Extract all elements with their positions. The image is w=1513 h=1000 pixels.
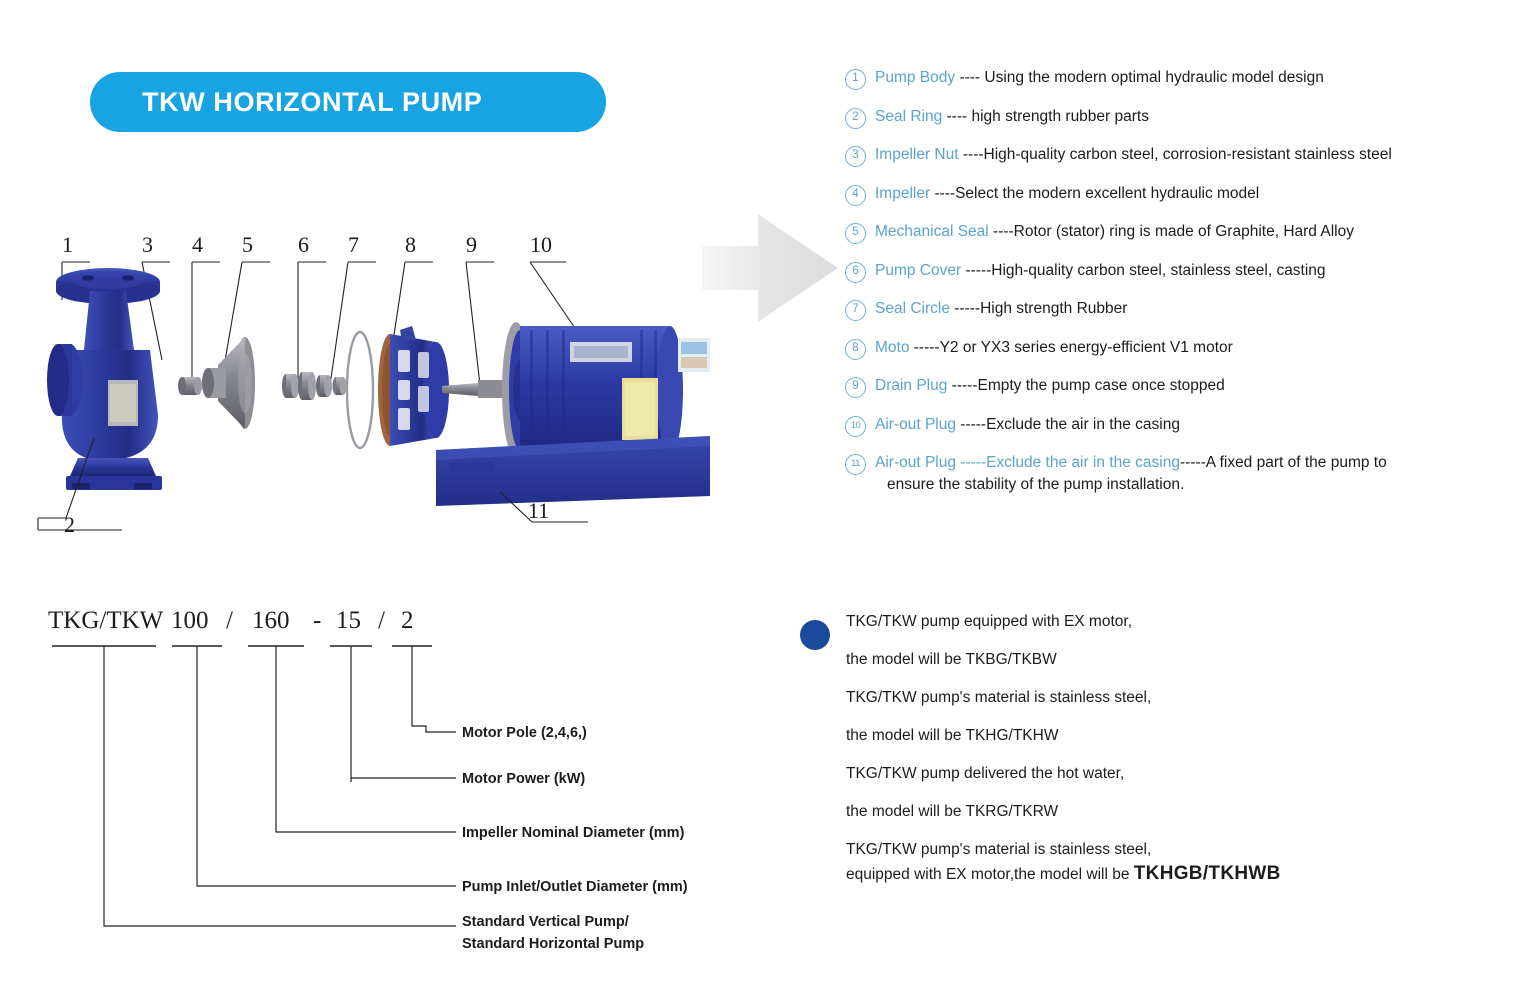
legend-number-8: 8 [845,339,866,360]
legend-number-1: 1 [845,69,866,90]
parts-legend: 1 Pump Body ---- Using the modern optima… [845,68,1505,512]
legend-item-9: 9 Drain Plug -----Empty the pump case on… [845,376,1505,398]
legend-part-name-2: Seal Ring [875,108,942,125]
legend-part-desc-1: ---- Using the modern optimal hydraulic … [955,69,1324,86]
bullet-dot-icon [800,620,830,650]
callout-label-motor-power: Motor Power (kW) [462,771,585,787]
callout-number-3: 3 [142,232,153,257]
note-line-1: TKG/TKW pump equipped with EX motor, [846,612,1440,632]
legend-part-name-7: Seal Circle [875,300,950,317]
code-dash: - [313,607,321,634]
flow-arrow [700,212,840,324]
callout-number-2: 2 [64,512,75,537]
legend-part-name-10: Air-out Plug [875,416,956,433]
legend-number-11: 11 [845,454,866,475]
code-slash-1: / [226,607,233,634]
callout-number-4: 4 [192,232,203,257]
legend-part-desc-4: ----Select the modern excellent hydrauli… [930,185,1259,202]
legend-part-name-5: Mechanical Seal [875,223,989,240]
legend-text-6: Pump Cover -----High-quality carbon stee… [875,261,1505,281]
legend-item-6: 6 Pump Cover -----High-quality carbon st… [845,261,1505,283]
code-pole: 2 [401,607,414,634]
part-pump-cover [378,326,449,446]
callout-numbers-top: 1 3 4 5 6 7 8 9 10 [62,232,552,257]
note-line-7-text: TKG/TKW pump's material is stainless ste… [846,841,1151,858]
legend-number-9: 9 [845,377,866,398]
callout-label-impeller-diameter: Impeller Nominal Diameter (mm) [462,825,685,841]
legend-part-desc-5: ----Rotor (stator) ring is made of Graph… [989,223,1354,240]
legend-text-3: Impeller Nut ----High-quality carbon ste… [875,145,1505,165]
legend-part-desc-10: -----Exclude the air in the casing [956,416,1180,433]
code-leaders [104,646,456,926]
notes-body: TKG/TKW pump equipped with EX motor, the… [846,612,1440,885]
legend-text-1: Pump Body ---- Using the modern optimal … [875,68,1505,88]
legend-part-desc-7: -----High strength Rubber [950,300,1127,317]
code-impeller: 160 [252,607,290,634]
legend-number-5: 5 [845,223,866,244]
legend-item-10: 10 Air-out Plug -----Exclude the air in … [845,415,1505,437]
callout-label-standard-pump-2: Standard Horizontal Pump [462,936,644,952]
code-inlet: 100 [171,607,209,634]
note-line-2: the model will be TKBG/TKBW [846,650,1440,670]
title-banner: TKW HORIZONTAL PUMP [90,72,606,132]
legend-item-4: 4 Impeller ----Select the modern excelle… [845,184,1505,206]
legend-item-7: 7 Seal Circle -----High strength Rubber [845,299,1505,321]
part-impeller-nut [178,377,202,395]
legend-item-3: 3 Impeller Nut ----High-quality carbon s… [845,145,1505,167]
legend-part-name-11: Air-out Plug -----Exclude the air in the… [875,454,1180,471]
legend-number-6: 6 [845,262,866,283]
note-line-8: equipped with EX motor,the model will be… [846,864,1440,885]
model-code-designation: TKG/TKW 100 / 160 - 15 / 2 [48,600,748,970]
legend-part-cont-11: ensure the stability of the pump install… [875,475,1505,495]
note-line-8-prefix: equipped with EX motor,the model will be [846,866,1134,883]
note-line-6: the model will be TKRG/TKRW [846,802,1440,822]
legend-number-7: 7 [845,300,866,321]
legend-text-9: Drain Plug -----Empty the pump case once… [875,376,1505,396]
callout-number-1: 1 [62,232,73,257]
note-line-3: TKG/TKW pump's material is stainless ste… [846,688,1440,708]
legend-text-2: Seal Ring ---- high strength rubber part… [875,107,1505,127]
legend-text-11: Air-out Plug -----Exclude the air in the… [875,453,1505,495]
legend-item-11: 11 Air-out Plug -----Exclude the air in … [845,453,1505,495]
code-prefix: TKG/TKW [48,607,164,634]
callout-number-11: 11 [528,498,549,523]
part-pump-foot [70,458,156,476]
legend-item-8: 8 Moto -----Y2 or YX3 series energy-effi… [845,338,1505,360]
callout-label-standard-pump-1: Standard Vertical Pump/ [462,914,629,930]
code-slash-2: / [378,607,385,634]
part-seal-circle [347,332,373,448]
part-mechanical-seal [282,372,347,400]
legend-item-1: 1 Pump Body ---- Using the modern optima… [845,68,1505,90]
legend-part-desc-9: -----Empty the pump case once stopped [947,377,1224,394]
legend-item-2: 2 Seal Ring ---- high strength rubber pa… [845,107,1505,129]
legend-number-10: 10 [845,416,866,437]
legend-part-name-1: Pump Body [875,69,955,86]
note-model-code: TKHGB/TKHWB [1134,863,1281,884]
page-title: TKW HORIZONTAL PUMP [90,87,482,118]
note-line-5: TKG/TKW pump delivered the hot water, [846,764,1440,784]
legend-part-name-4: Impeller [875,185,930,202]
page-root: TKW HORIZONTAL PUMP [0,0,1513,1000]
legend-part-desc-8: -----Y2 or YX3 series energy-efficient V… [909,339,1232,356]
legend-part-desc-2: ---- high strength rubber parts [942,108,1149,125]
legend-part-desc-11: -----A fixed part of the pump to [1180,454,1387,471]
note-line-7: TKG/TKW pump's material is stainless ste… [846,840,1440,885]
part-base-plate [436,436,710,506]
legend-text-5: Mechanical Seal ----Rotor (stator) ring … [875,222,1505,242]
legend-part-name-8: Moto [875,339,909,356]
legend-text-7: Seal Circle -----High strength Rubber [875,299,1505,319]
callout-number-8: 8 [405,232,416,257]
legend-text-10: Air-out Plug -----Exclude the air in the… [875,415,1505,435]
legend-part-name-3: Impeller Nut [875,146,959,163]
callout-label-motor-pole: Motor Pole (2,4,6,) [462,725,587,741]
pump-exploded-diagram: 1 3 4 5 6 7 8 9 10 [30,200,710,570]
callout-number-10: 10 [530,232,552,257]
callout-number-6: 6 [298,232,309,257]
callout-number-9: 9 [466,232,477,257]
legend-part-desc-3: ----High-quality carbon steel, corrosion… [959,146,1392,163]
legend-text-4: Impeller ----Select the modern excellent… [875,184,1505,204]
part-pump-body [47,268,162,490]
code-power: 15 [336,607,361,634]
legend-part-desc-6: -----High-quality carbon steel, stainles… [961,262,1325,279]
legend-text-8: Moto -----Y2 or YX3 series energy-effici… [875,338,1505,358]
legend-item-5: 5 Mechanical Seal ----Rotor (stator) rin… [845,222,1505,244]
model-naming-notes: TKG/TKW pump equipped with EX motor, the… [800,612,1440,903]
callout-number-7: 7 [348,232,359,257]
legend-part-name-9: Drain Plug [875,377,947,394]
callout-number-5: 5 [242,232,253,257]
part-impeller [202,337,255,429]
callout-label-inlet-diameter: Pump Inlet/Outlet Diameter (mm) [462,879,688,895]
note-line-4: the model will be TKHG/TKHW [846,726,1440,746]
legend-number-4: 4 [845,185,866,206]
legend-part-name-6: Pump Cover [875,262,961,279]
legend-number-3: 3 [845,146,866,167]
legend-number-2: 2 [845,108,866,129]
